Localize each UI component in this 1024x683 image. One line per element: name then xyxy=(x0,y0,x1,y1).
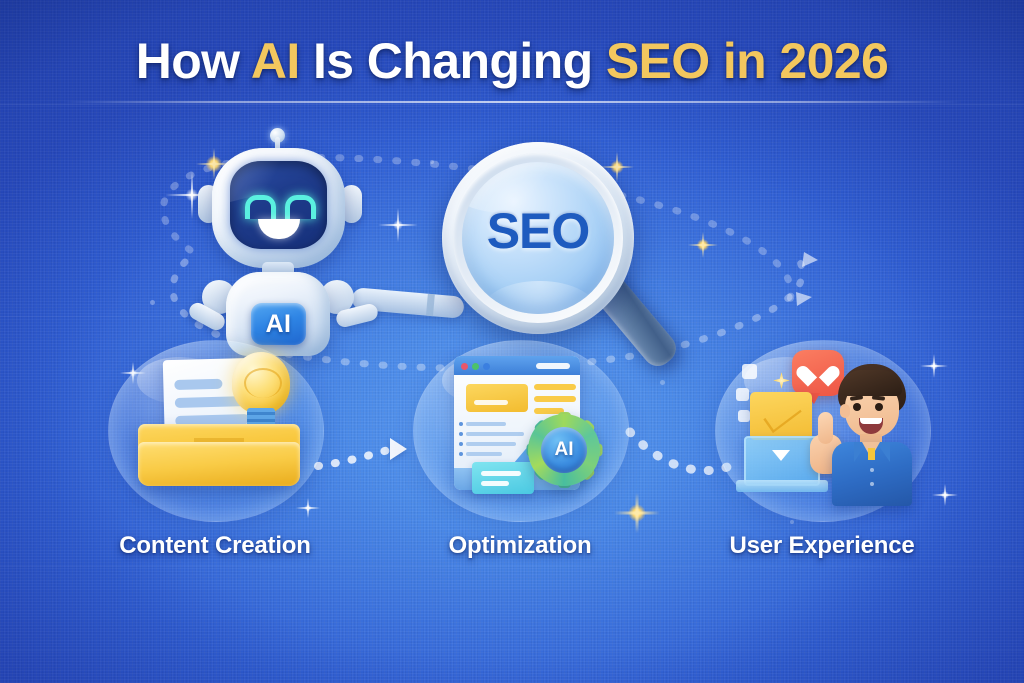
browser-dot-blue xyxy=(483,363,490,370)
title-segment-is-changing: Is Changing xyxy=(300,33,606,89)
page-title: How AI Is Changing SEO in 2026 xyxy=(0,36,1024,86)
robot-eye-right xyxy=(285,195,316,219)
infographic-poster: How AI Is Changing SEO in 2026 xyxy=(0,0,1024,683)
document-folder-lightbulb-icon xyxy=(136,352,304,502)
user-character xyxy=(832,364,912,506)
background-scanline xyxy=(0,566,1024,567)
browser-titlebar xyxy=(454,356,580,375)
gear-ai-text: AI xyxy=(541,427,587,473)
lightbulb-glass xyxy=(232,352,290,414)
browser-address-pill xyxy=(536,363,570,369)
title-segment-ai: AI xyxy=(251,33,300,89)
content-line-yellow xyxy=(534,396,576,402)
robot-face-screen xyxy=(230,161,327,249)
ai-robot-mascot: AI xyxy=(186,140,372,355)
floating-square xyxy=(738,410,750,422)
step-label-optimization: Optimization xyxy=(370,532,670,560)
floating-square xyxy=(742,364,757,379)
cyan-card xyxy=(472,462,534,494)
robot-smile xyxy=(258,219,300,239)
flow-arrow-1 xyxy=(390,438,407,460)
envelope-sparkle xyxy=(773,372,790,389)
title-segment-how: How xyxy=(136,33,251,89)
character-eye-right xyxy=(875,403,883,411)
content-line-yellow xyxy=(534,384,576,390)
folder-tray-back xyxy=(138,424,300,486)
step-label-content-creation: Content Creation xyxy=(65,532,365,560)
browser-window-ai-gear-icon: AI xyxy=(444,356,596,498)
character-ear xyxy=(840,404,850,418)
character-eye-left xyxy=(853,403,861,411)
gear-center-ai-label: AI xyxy=(541,427,587,473)
title-divider xyxy=(62,101,962,103)
happy-user-thumbs-up-icon xyxy=(736,350,912,506)
floating-square xyxy=(736,388,749,401)
sparkle-dot xyxy=(790,520,794,524)
robot-chest-ai-badge: AI xyxy=(251,303,306,345)
background-scanline xyxy=(0,104,1024,105)
browser-dot-red xyxy=(461,363,468,370)
character-hair-front xyxy=(840,370,902,396)
content-block-primary xyxy=(466,384,528,412)
sparkle-dot xyxy=(150,300,155,305)
browser-dot-green xyxy=(472,363,479,370)
magnifier-seo-text: SEO xyxy=(462,206,614,256)
step-label-user-experience: User Experience xyxy=(672,532,972,560)
folder-tray-front xyxy=(138,442,300,486)
ai-gear-icon: AI xyxy=(528,414,600,486)
background-scanline xyxy=(0,650,1024,651)
robot-eye-left xyxy=(245,195,276,219)
heart-icon xyxy=(806,362,830,384)
title-segment-seo-2026: SEO in 2026 xyxy=(606,33,888,89)
envelope-icon xyxy=(750,392,812,440)
sparkle-dot xyxy=(430,160,434,164)
magnifier-lens: SEO xyxy=(462,162,614,314)
